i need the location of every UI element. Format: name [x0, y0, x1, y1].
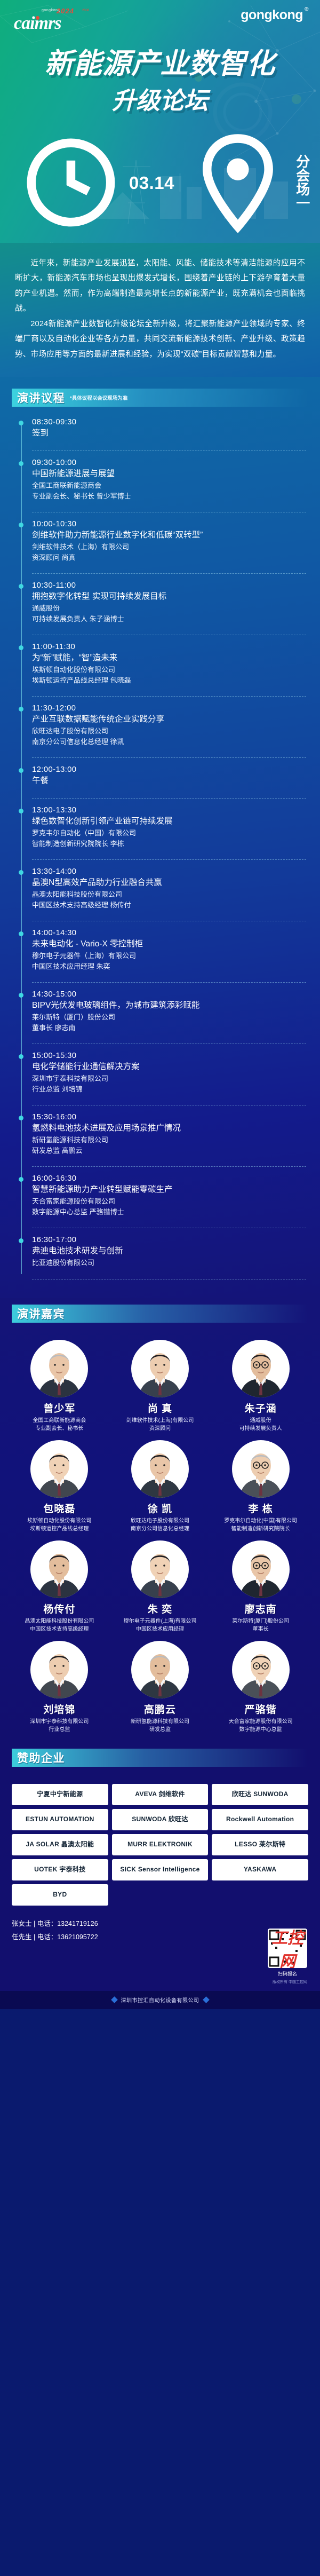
speaker-title: 中国区技术支持高级经理: [11, 1625, 108, 1633]
speaker-title: 南京分公司信息化总经理: [111, 1525, 209, 1533]
agenda-item: 15:30-16:00氢燃料电池技术进展及应用场景推广情况新研氢能源科技有限公司…: [32, 1112, 306, 1161]
copyright-text: 版权所有 中国工控网: [273, 1979, 307, 1985]
speaker-name: 高鹏云: [111, 1702, 209, 1716]
speaker-card: 严骆锴天合富家能源股份有限公司数字能源中心总监: [212, 1641, 309, 1734]
agenda-item-org: 比亚迪股份有限公司: [32, 1258, 306, 1268]
event-venue: 分会场一: [296, 155, 320, 210]
qr-block[interactable]: 工控网 扫码报名: [268, 1929, 307, 1977]
avatar: [232, 1540, 290, 1598]
agenda-item-topic: 弗迪电池技术研发与创新: [32, 1245, 306, 1257]
agenda-item-speaker: 资深顾问 尚真: [32, 552, 306, 563]
caimrs-logo: gongkong 2024 2008 caimrs: [14, 7, 105, 37]
hero-topbar: gongkong 2024 2008 caimrs gongkong®: [0, 0, 320, 37]
speakers-section: 演讲嘉宾 曾少军全国工商联新能源商会专业副会长、秘书长尚 真剑维软件技术(上海)…: [0, 1298, 320, 1743]
sponsor-logo[interactable]: 宁夏中宁新能源: [12, 1784, 108, 1805]
speaker-title: 专业副会长、秘书长: [11, 1425, 108, 1433]
agenda-item: 11:00-11:30为“新”赋能，“智”造未来埃斯顿自动化股份有限公司埃斯顿运…: [32, 642, 306, 691]
avatar: [131, 1641, 189, 1698]
agenda-item-time: 15:00-15:30: [32, 1051, 306, 1060]
speaker-title: 行业总监: [11, 1726, 108, 1734]
agenda-item-time: 08:30-09:30: [32, 417, 306, 426]
avatar: [30, 1340, 88, 1397]
speaker-company: 穆尔电子元器件(上海)有限公司: [111, 1617, 209, 1625]
avatar: [30, 1540, 88, 1598]
agenda-item-topic: 签到: [32, 428, 306, 439]
agenda-item-org: 新研氢能源科技有限公司: [32, 1135, 306, 1145]
agenda-item-topic: 氢燃料电池技术进展及应用场景推广情况: [32, 1123, 306, 1134]
event-date: 03.14: [129, 174, 174, 192]
agenda-item-org: 晶澳太阳能科技股份有限公司: [32, 889, 306, 900]
agenda-divider: [32, 451, 306, 451]
agenda-item-org: 穆尔电子元器件（上海）有限公司: [32, 951, 306, 961]
contact-line-2: 任先生 | 电话：13621095722: [12, 1931, 308, 1944]
agenda-item-time: 09:30-10:00: [32, 458, 306, 467]
speakers-section-header: 演讲嘉宾: [12, 1305, 308, 1323]
sponsor-logo[interactable]: UOTEK 宇泰科技: [12, 1859, 108, 1880]
agenda-item-time: 15:30-16:00: [32, 1112, 306, 1121]
registered-mark-icon: ®: [305, 6, 308, 12]
agenda-item-time: 13:30-14:00: [32, 867, 306, 876]
speaker-card: 尚 真剑维软件技术(上海)有限公司资深顾问: [111, 1340, 209, 1433]
sponsors-section: 赞助企业 宁夏中宁新能源AVEVA 剑维软件欣旺达 SUNWODAESTUN A…: [0, 1743, 320, 1911]
agenda-item: 10:30-11:00拥抱数字化转型 实现可持续发展目标通威股份可持续发展负责人…: [32, 581, 306, 630]
agenda-item-topic: 智慧新能源助力产业转型赋能零碳生产: [32, 1184, 306, 1196]
agenda-item-org: 剑维软件技术（上海）有限公司: [32, 542, 306, 552]
agenda-divider: [32, 1044, 306, 1044]
sponsor-logo[interactable]: BYD: [12, 1884, 108, 1906]
speaker-title: 资深顾问: [111, 1425, 209, 1433]
agenda-item-topic: 午餐: [32, 775, 306, 787]
gongkong-logo-text: gongkong: [241, 7, 303, 22]
speaker-title: 智能制造创新研究院院长: [212, 1525, 309, 1533]
speaker-title: 研发总监: [111, 1726, 209, 1734]
contact-line-1: 张女士 | 电话：13241719126: [12, 1917, 308, 1931]
agenda-item: 14:00-14:30未来电动化 - Vario-X 零控制柜穆尔电子元器件（上…: [32, 928, 306, 977]
speaker-card: 杨传付晶澳太阳能科技股份有限公司中国区技术支持高级经理: [11, 1540, 108, 1633]
sponsor-logo-label: SUNWODA 欣旺达: [132, 1816, 188, 1823]
poster-title-line2: 升级论坛: [0, 81, 320, 116]
speakers-section-title: 演讲嘉宾: [17, 1306, 65, 1322]
sponsor-logo[interactable]: AVEVA 剑维软件: [112, 1784, 209, 1805]
intro-section: 近年来，新能源产业发展迅猛，太阳能、风能、储能技术等清洁能源的应用不断扩大，新能…: [0, 243, 320, 377]
agenda-divider: [32, 757, 306, 758]
sponsor-logo-label: UOTEK 宇泰科技: [34, 1866, 85, 1873]
agenda-divider: [32, 573, 306, 574]
sponsor-logo-grid: 宁夏中宁新能源AVEVA 剑维软件欣旺达 SUNWODAESTUN AUTOMA…: [0, 1777, 320, 1906]
speaker-company: 埃斯顿自动化股份有限公司: [11, 1517, 108, 1525]
avatar: [232, 1340, 290, 1397]
agenda-item-org: 深圳市宇泰科技有限公司: [32, 1073, 306, 1084]
agenda-section: 演讲议程 *具体议程以会议现场为准 08:30-09:30签到09:30-10:…: [0, 377, 320, 1298]
agenda-divider: [32, 635, 306, 635]
speaker-card: 高鹏云新研氢能源科技有限公司研发总监: [111, 1641, 209, 1734]
avatar: [232, 1440, 290, 1498]
agenda-divider: [32, 798, 306, 799]
speaker-card: 廖志南莱尔斯特(厦门)股份公司董事长: [212, 1540, 309, 1633]
qr-code[interactable]: 工控网: [268, 1929, 307, 1968]
speaker-card: 包晓磊埃斯顿自动化股份有限公司埃斯顿运控产品线总经理: [11, 1440, 108, 1533]
agenda-section-title: 演讲议程: [17, 390, 65, 406]
speakers-grid: 曾少军全国工商联新能源商会专业副会长、秘书长尚 真剑维软件技术(上海)有限公司资…: [0, 1333, 320, 1734]
speaker-name: 李 栋: [212, 1501, 309, 1515]
caimrs-logo-year2: 2008: [82, 9, 89, 12]
speaker-company: 罗克韦尔自动化(中国)有限公司: [212, 1517, 309, 1525]
agenda-item-org: 埃斯顿自动化股份有限公司: [32, 665, 306, 675]
sponsor-logo-label: Rockwell Automation: [226, 1816, 294, 1823]
sponsor-logo[interactable]: MURR ELEKTRONIK: [112, 1834, 209, 1855]
avatar: [131, 1540, 189, 1598]
footer-company-name: 深圳市控汇自动化设备有限公司: [121, 1996, 199, 2004]
agenda-divider: [32, 1105, 306, 1105]
speaker-card: 李 栋罗克韦尔自动化(中国)有限公司智能制造创新研究院院长: [212, 1440, 309, 1533]
agenda-item-speaker: 专业副会长、秘书长 曾少军博士: [32, 491, 306, 502]
speaker-name: 朱子涵: [212, 1401, 309, 1415]
agenda-item: 09:30-10:00中国新能源进展与展望全国工商联新能源商会专业副会长、秘书长…: [32, 458, 306, 507]
sponsors-section-title: 赞助企业: [17, 1750, 65, 1766]
agenda-item-topic: 电化学储能行业通信解决方案: [32, 1061, 306, 1073]
agenda-item: 13:30-14:00晶澳N型高效产品助力行业融合共赢晶澳太阳能科技股份有限公司…: [32, 867, 306, 916]
gongkong-logo: gongkong®: [241, 7, 308, 23]
agenda-item: 13:00-13:30绿色数智化创新引领产业链可持续发展罗克韦尔自动化（中国）有…: [32, 805, 306, 855]
agenda-item-time: 16:30-17:00: [32, 1235, 306, 1244]
agenda-divider: [32, 696, 306, 697]
diamond-icon: [111, 1996, 118, 2003]
agenda-item-org: 全国工商联新能源商会: [32, 480, 306, 491]
avatar: [131, 1340, 189, 1397]
agenda-item: 15:00-15:30电化学储能行业通信解决方案深圳市宇泰科技有限公司行业总监 …: [32, 1051, 306, 1100]
speaker-card: 曾少军全国工商联新能源商会专业副会长、秘书长: [11, 1340, 108, 1433]
speaker-company: 新研氢能源科技有限公司: [111, 1718, 209, 1726]
intro-paragraph-2: 2024新能源产业数智化升级论坛全新升级，将汇聚新能源产业领域的专家、终端厂商以…: [15, 317, 305, 362]
agenda-section-header: 演讲议程 *具体议程以会议现场为准: [12, 389, 308, 407]
footer-section: 张女士 | 电话：13241719126 任先生 | 电话：1362109572…: [0, 1911, 320, 1991]
intro-paragraph-1: 近年来，新能源产业发展迅猛，太阳能、风能、储能技术等清洁能源的应用不断扩大，新能…: [15, 256, 305, 317]
agenda-item-speaker: 中国区技术支持高级经理 杨传付: [32, 900, 306, 911]
speaker-company: 全国工商联新能源商会: [11, 1417, 108, 1425]
agenda-item: 10:00-10:30剑维软件助力新能源行业数字化和低碳“双转型”剑维软件技术（…: [32, 519, 306, 568]
avatar: [232, 1641, 290, 1698]
speaker-title: 董事长: [212, 1625, 309, 1633]
agenda-divider: [32, 512, 306, 512]
speaker-name: 尚 真: [111, 1401, 209, 1415]
agenda-item-org: 莱尔斯特（厦门）股份公司: [32, 1012, 306, 1023]
avatar: [30, 1440, 88, 1498]
agenda-item-speaker: 董事长 廖志南: [32, 1023, 306, 1033]
speaker-company: 深圳市宇泰科技有限公司: [11, 1718, 108, 1726]
agenda-item-time: 14:00-14:30: [32, 928, 306, 937]
agenda-item-topic: 绿色数智化创新引领产业链可持续发展: [32, 816, 306, 827]
speaker-card: 刘培锦深圳市宇泰科技有限公司行业总监: [11, 1641, 108, 1734]
footer-bar: 深圳市控汇自动化设备有限公司: [0, 1991, 320, 2009]
speaker-company: 天合富家能源股份有限公司: [212, 1718, 309, 1726]
agenda-item-speaker: 南京分公司信息化总经理 徐凯: [32, 737, 306, 747]
speaker-title: 埃斯顿运控产品线总经理: [11, 1525, 108, 1533]
speaker-card: 徐 凯欣旺达电子股份有限公司南京分公司信息化总经理: [111, 1440, 209, 1533]
agenda-item-speaker: 可持续发展负责人 朱子涵博士: [32, 614, 306, 625]
agenda-item-time: 12:00-13:00: [32, 765, 306, 774]
agenda-item-speaker: 智能制造创新研究院院长 李栋: [32, 839, 306, 849]
speaker-card: 朱子涵通威股份可持续发展负责人: [212, 1340, 309, 1433]
poster-page: gongkong 2024 2008 caimrs gongkong® 新能源产…: [0, 0, 320, 2009]
agenda-item-speaker: 中国区技术应用经理 朱奕: [32, 961, 306, 972]
agenda-item: 16:30-17:00弗迪电池技术研发与创新比亚迪股份有限公司: [32, 1235, 306, 1274]
speaker-title: 可持续发展负责人: [212, 1425, 309, 1433]
speaker-title: 数字能源中心总监: [212, 1726, 309, 1734]
speaker-company: 莱尔斯特(厦门)股份公司: [212, 1617, 309, 1625]
sponsor-logo-label: YASKAWA: [244, 1866, 277, 1873]
agenda-item-org: 天合富家能源股份有限公司: [32, 1196, 306, 1207]
agenda-item: 16:00-16:30智慧新能源助力产业转型赋能零碳生产天合富家能源股份有限公司…: [32, 1174, 306, 1223]
agenda-item-topic: 剑维软件助力新能源行业数字化和低碳“双转型”: [32, 530, 306, 541]
avatar: [131, 1440, 189, 1498]
agenda-item-topic: 中国新能源进展与展望: [32, 468, 306, 480]
speaker-company: 欣旺达电子股份有限公司: [111, 1517, 209, 1525]
qr-center-label: 工控网: [268, 1929, 307, 1968]
speaker-company: 通威股份: [212, 1417, 309, 1425]
speaker-name: 刘培锦: [11, 1702, 108, 1716]
agenda-divider: [32, 982, 306, 983]
agenda-item-time: 10:30-11:00: [32, 581, 306, 590]
hero-banner: gongkong 2024 2008 caimrs gongkong® 新能源产…: [0, 0, 320, 243]
speaker-name: 曾少军: [11, 1401, 108, 1415]
agenda-item-speaker: 埃斯顿运控产品线总经理 包晓磊: [32, 675, 306, 686]
agenda-item-topic: 产业互联数据赋能传统企业实践分享: [32, 714, 306, 725]
agenda-item-topic: 为“新”赋能，“智”造未来: [32, 652, 306, 664]
agenda-item-topic: BIPV光伏发电玻璃组件，为城市建筑添彩赋能: [32, 1000, 306, 1012]
agenda-item-org: 罗克韦尔自动化（中国）有限公司: [32, 828, 306, 839]
avatar: [30, 1641, 88, 1698]
sponsor-logo-label: ESTUN AUTOMATION: [26, 1816, 94, 1823]
location-pin-icon: [185, 130, 291, 235]
agenda-divider: [32, 1228, 306, 1228]
clock-icon: [18, 130, 124, 235]
sponsor-logo-label: BYD: [53, 1891, 67, 1898]
speaker-name: 廖志南: [212, 1601, 309, 1616]
sponsor-logo[interactable]: Rockwell Automation: [212, 1809, 308, 1830]
speaker-company: 剑维软件技术(上海)有限公司: [111, 1417, 209, 1425]
agenda-timeline: 08:30-09:30签到09:30-10:00中国新能源进展与展望全国工商联新…: [18, 417, 306, 1279]
agenda-section-note: *具体议程以会议现场为准: [70, 394, 127, 401]
agenda-item-time: 11:30-12:00: [32, 704, 306, 713]
agenda-item-speaker: 数字能源中心总监 严骆锴博士: [32, 1207, 306, 1218]
agenda-item: 12:00-13:00午餐: [32, 765, 306, 793]
poster-title-line1: 新能源产业数智化: [0, 49, 320, 79]
sponsor-logo-label: AVEVA 剑维软件: [135, 1791, 185, 1798]
caimrs-logo-dot-icon: [36, 16, 39, 20]
sponsor-logo[interactable]: SUNWODA 欣旺达: [112, 1809, 209, 1830]
agenda-item: 11:30-12:00产业互联数据赋能传统企业实践分享欣旺达电子股份有限公司南京…: [32, 704, 306, 753]
agenda-item-time: 13:00-13:30: [32, 805, 306, 815]
sponsor-logo[interactable]: JA SOLAR 晶澳太阳能: [12, 1834, 108, 1855]
sponsor-logo[interactable]: ESTUN AUTOMATION: [12, 1809, 108, 1830]
agenda-item-time: 11:00-11:30: [32, 642, 306, 651]
agenda-item-speaker: 行业总监 刘培锦: [32, 1084, 306, 1095]
sponsor-logo-label: 宁夏中宁新能源: [37, 1791, 83, 1798]
agenda-item-org: 通威股份: [32, 603, 306, 614]
agenda-item-time: 10:00-10:30: [32, 519, 306, 528]
agenda-item-topic: 未来电动化 - Vario-X 零控制柜: [32, 938, 306, 950]
agenda-divider: [32, 921, 306, 921]
sponsor-logo[interactable]: LESSO 莱尔斯特: [212, 1834, 308, 1855]
speaker-name: 杨传付: [11, 1601, 108, 1616]
sponsor-logo-label: JA SOLAR 晶澳太阳能: [26, 1841, 94, 1848]
event-meta: 03.14 分会场一: [0, 130, 320, 235]
sponsor-logo[interactable]: YASKAWA: [212, 1859, 308, 1880]
agenda-item-org: 欣旺达电子股份有限公司: [32, 726, 306, 737]
agenda-item-speaker: 研发总监 高鹏云: [32, 1145, 306, 1156]
speaker-name: 朱 奕: [111, 1601, 209, 1616]
agenda-item: 14:30-15:00BIPV光伏发电玻璃组件，为城市建筑添彩赋能莱尔斯特（厦门…: [32, 990, 306, 1039]
sponsor-logo[interactable]: 欣旺达 SUNWODA: [212, 1784, 308, 1805]
speaker-title: 中国区技术应用经理: [111, 1625, 209, 1633]
contact-block: 张女士 | 电话：13241719126 任先生 | 电话：1362109572…: [12, 1917, 308, 1944]
speaker-name: 严骆锴: [212, 1702, 309, 1716]
sponsor-logo-label: MURR ELEKTRONIK: [127, 1841, 193, 1848]
agenda-divider: [32, 1166, 306, 1167]
sponsors-section-header: 赞助企业: [12, 1749, 308, 1767]
diamond-icon: [203, 1996, 210, 2003]
speaker-company: 晶澳太阳能科技股份有限公司: [11, 1617, 108, 1625]
qr-caption: 扫码报名: [268, 1970, 307, 1977]
agenda-divider: [32, 859, 306, 860]
agenda-item-topic: 拥抱数字化转型 实现可持续发展目标: [32, 591, 306, 603]
agenda-item-topic: 晶澳N型高效产品助力行业融合共赢: [32, 877, 306, 889]
sponsor-logo-label: LESSO 莱尔斯特: [235, 1841, 285, 1848]
speaker-card: 朱 奕穆尔电子元器件(上海)有限公司中国区技术应用经理: [111, 1540, 209, 1633]
agenda-item-time: 14:30-15:00: [32, 990, 306, 999]
agenda-item: 08:30-09:30签到: [32, 417, 306, 446]
sponsor-logo-label: 欣旺达 SUNWODA: [232, 1791, 289, 1798]
agenda-divider: [32, 1279, 306, 1279]
speaker-name: 包晓磊: [11, 1501, 108, 1515]
agenda-item-time: 16:00-16:30: [32, 1174, 306, 1183]
sponsor-logo-label: SICK Sensor Intelligence: [120, 1866, 199, 1873]
sponsor-logo[interactable]: SICK Sensor Intelligence: [112, 1859, 209, 1880]
speaker-name: 徐 凯: [111, 1501, 209, 1515]
